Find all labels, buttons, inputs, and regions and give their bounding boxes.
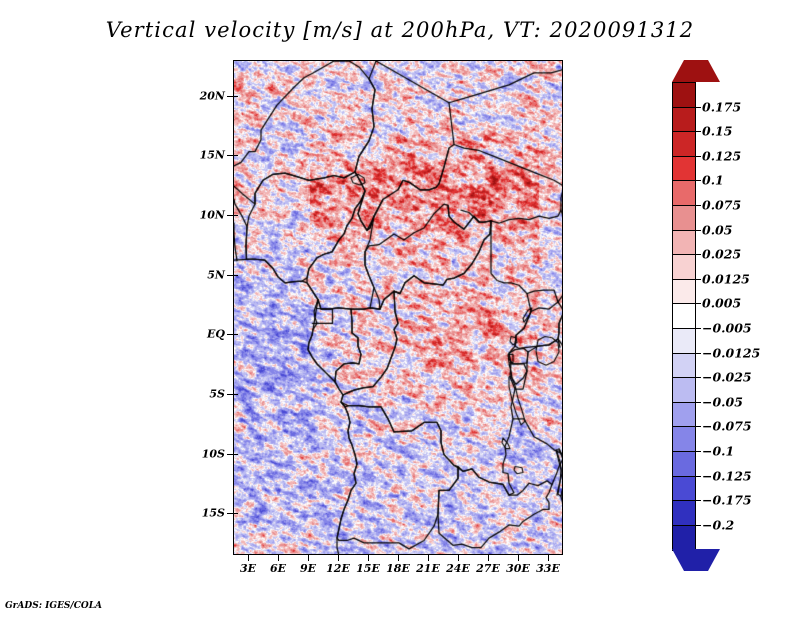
- colorbar-tick: [696, 377, 701, 378]
- y-axis-label: 20N: [200, 89, 225, 102]
- colorbar-tick: [696, 353, 701, 354]
- grads-credit: GrADS: IGES/COLA: [5, 601, 102, 611]
- colorbar-tick: [696, 328, 701, 329]
- colorbar-label: 0.0125: [702, 271, 750, 286]
- colorbar-label: 0.025: [702, 247, 741, 262]
- colorbar-tick: [696, 156, 701, 157]
- colorbar-label: −0.005: [702, 321, 752, 336]
- y-axis-tick-inner: [233, 513, 238, 514]
- y-axis-tick-inner: [233, 275, 238, 276]
- colorbar-tick: [696, 303, 701, 304]
- colorbar-band: [672, 279, 696, 305]
- page-title: Vertical velocity [m/s] at 200hPa, VT: 2…: [0, 18, 800, 42]
- colorbar-label: −0.175: [702, 493, 752, 508]
- colorbar-band: [672, 451, 696, 477]
- colorbar-label: 0.1: [702, 173, 724, 188]
- x-axis-label: 9E: [300, 562, 316, 575]
- x-axis-label: 12E: [326, 562, 350, 575]
- y-axis-tick-inner: [233, 334, 238, 335]
- colorbar-tick: [696, 451, 701, 452]
- colorbar-label: −0.0125: [702, 345, 760, 360]
- y-axis-label: 15N: [200, 149, 225, 162]
- colorbar-tick: [696, 230, 701, 231]
- y-axis-tick-inner: [233, 96, 238, 97]
- x-axis-tick: [368, 555, 369, 561]
- x-axis-tick: [428, 555, 429, 561]
- colorbar-band: [672, 402, 696, 428]
- colorbar-tick: [696, 426, 701, 427]
- colorbar-label: 0.075: [702, 198, 741, 213]
- x-axis-label: 33E: [536, 562, 560, 575]
- colorbar-tick: [696, 525, 701, 526]
- colorbar-label: −0.025: [702, 370, 752, 385]
- x-axis-label: 27E: [476, 562, 500, 575]
- colorbar-tick: [696, 180, 701, 181]
- colorbar-band: [672, 328, 696, 354]
- x-axis-label: 3E: [240, 562, 256, 575]
- x-axis-tick: [308, 555, 309, 561]
- y-axis-label: 10S: [202, 447, 225, 460]
- colorbar-label: −0.125: [702, 468, 752, 483]
- colorbar-tick: [696, 131, 701, 132]
- y-axis-tick-inner: [233, 394, 238, 395]
- y-axis-label: EQ: [207, 328, 225, 341]
- colorbar-band: [672, 500, 696, 526]
- y-axis-tick-inner: [233, 215, 238, 216]
- x-axis-tick: [548, 555, 549, 561]
- colorbar-band: [672, 230, 696, 256]
- y-axis-label: 5N: [207, 268, 225, 281]
- colorbar-tick: [696, 476, 701, 477]
- y-axis-tick-inner: [233, 454, 238, 455]
- colorbar-tick: [696, 402, 701, 403]
- x-axis-label: 6E: [270, 562, 286, 575]
- colorbar-label: −0.2: [702, 517, 734, 532]
- y-axis-label: 15S: [202, 507, 225, 520]
- colorbar-band: [672, 426, 696, 452]
- colorbar-label: 0.05: [702, 222, 732, 237]
- y-axis-tick-inner: [233, 155, 238, 156]
- colorbar-band: [672, 377, 696, 403]
- colorbar-band: [672, 303, 696, 329]
- colorbar-band: [672, 476, 696, 502]
- x-axis-tick: [248, 555, 249, 561]
- y-axis-label: 10N: [200, 209, 225, 222]
- colorbar-label: 0.15: [702, 124, 732, 139]
- colorbar-band: [672, 254, 696, 280]
- colorbar-tick: [696, 107, 701, 108]
- colorbar-band: [672, 205, 696, 231]
- colorbar-band: [672, 156, 696, 182]
- colorbar-label: 0.175: [702, 99, 741, 114]
- y-axis-label: 5S: [209, 387, 225, 400]
- colorbar-tick: [696, 205, 701, 206]
- colorbar-tick: [696, 254, 701, 255]
- colorbar-top-arrow: [672, 60, 720, 82]
- x-axis-tick: [458, 555, 459, 561]
- x-axis-tick: [488, 555, 489, 561]
- colorbar-label: 0.125: [702, 148, 741, 163]
- x-axis-tick: [278, 555, 279, 561]
- colorbar-band: [672, 131, 696, 157]
- x-axis-label: 21E: [416, 562, 440, 575]
- colorbar-label: −0.05: [702, 394, 743, 409]
- x-axis-tick: [518, 555, 519, 561]
- colorbar-label: −0.1: [702, 444, 734, 459]
- colorbar-tick: [696, 500, 701, 501]
- colorbar-band: [672, 107, 696, 133]
- x-axis-label: 18E: [386, 562, 410, 575]
- colorbar-band: [672, 180, 696, 206]
- axis-layer: 20N15N10N5NEQ5S10S15S3E6E9E12E15E18E21E2…: [233, 60, 563, 555]
- colorbar-band: [672, 353, 696, 379]
- x-axis-label: 30E: [506, 562, 530, 575]
- colorbar-bottom-arrow: [672, 549, 720, 571]
- colorbar-band: [672, 525, 696, 551]
- colorbar-label: −0.075: [702, 419, 752, 434]
- colorbar-label: 0.005: [702, 296, 741, 311]
- x-axis-tick: [398, 555, 399, 561]
- x-axis-label: 24E: [446, 562, 470, 575]
- x-axis-label: 15E: [356, 562, 380, 575]
- colorbar-band: [672, 82, 696, 108]
- colorbar-tick: [696, 279, 701, 280]
- x-axis-tick: [338, 555, 339, 561]
